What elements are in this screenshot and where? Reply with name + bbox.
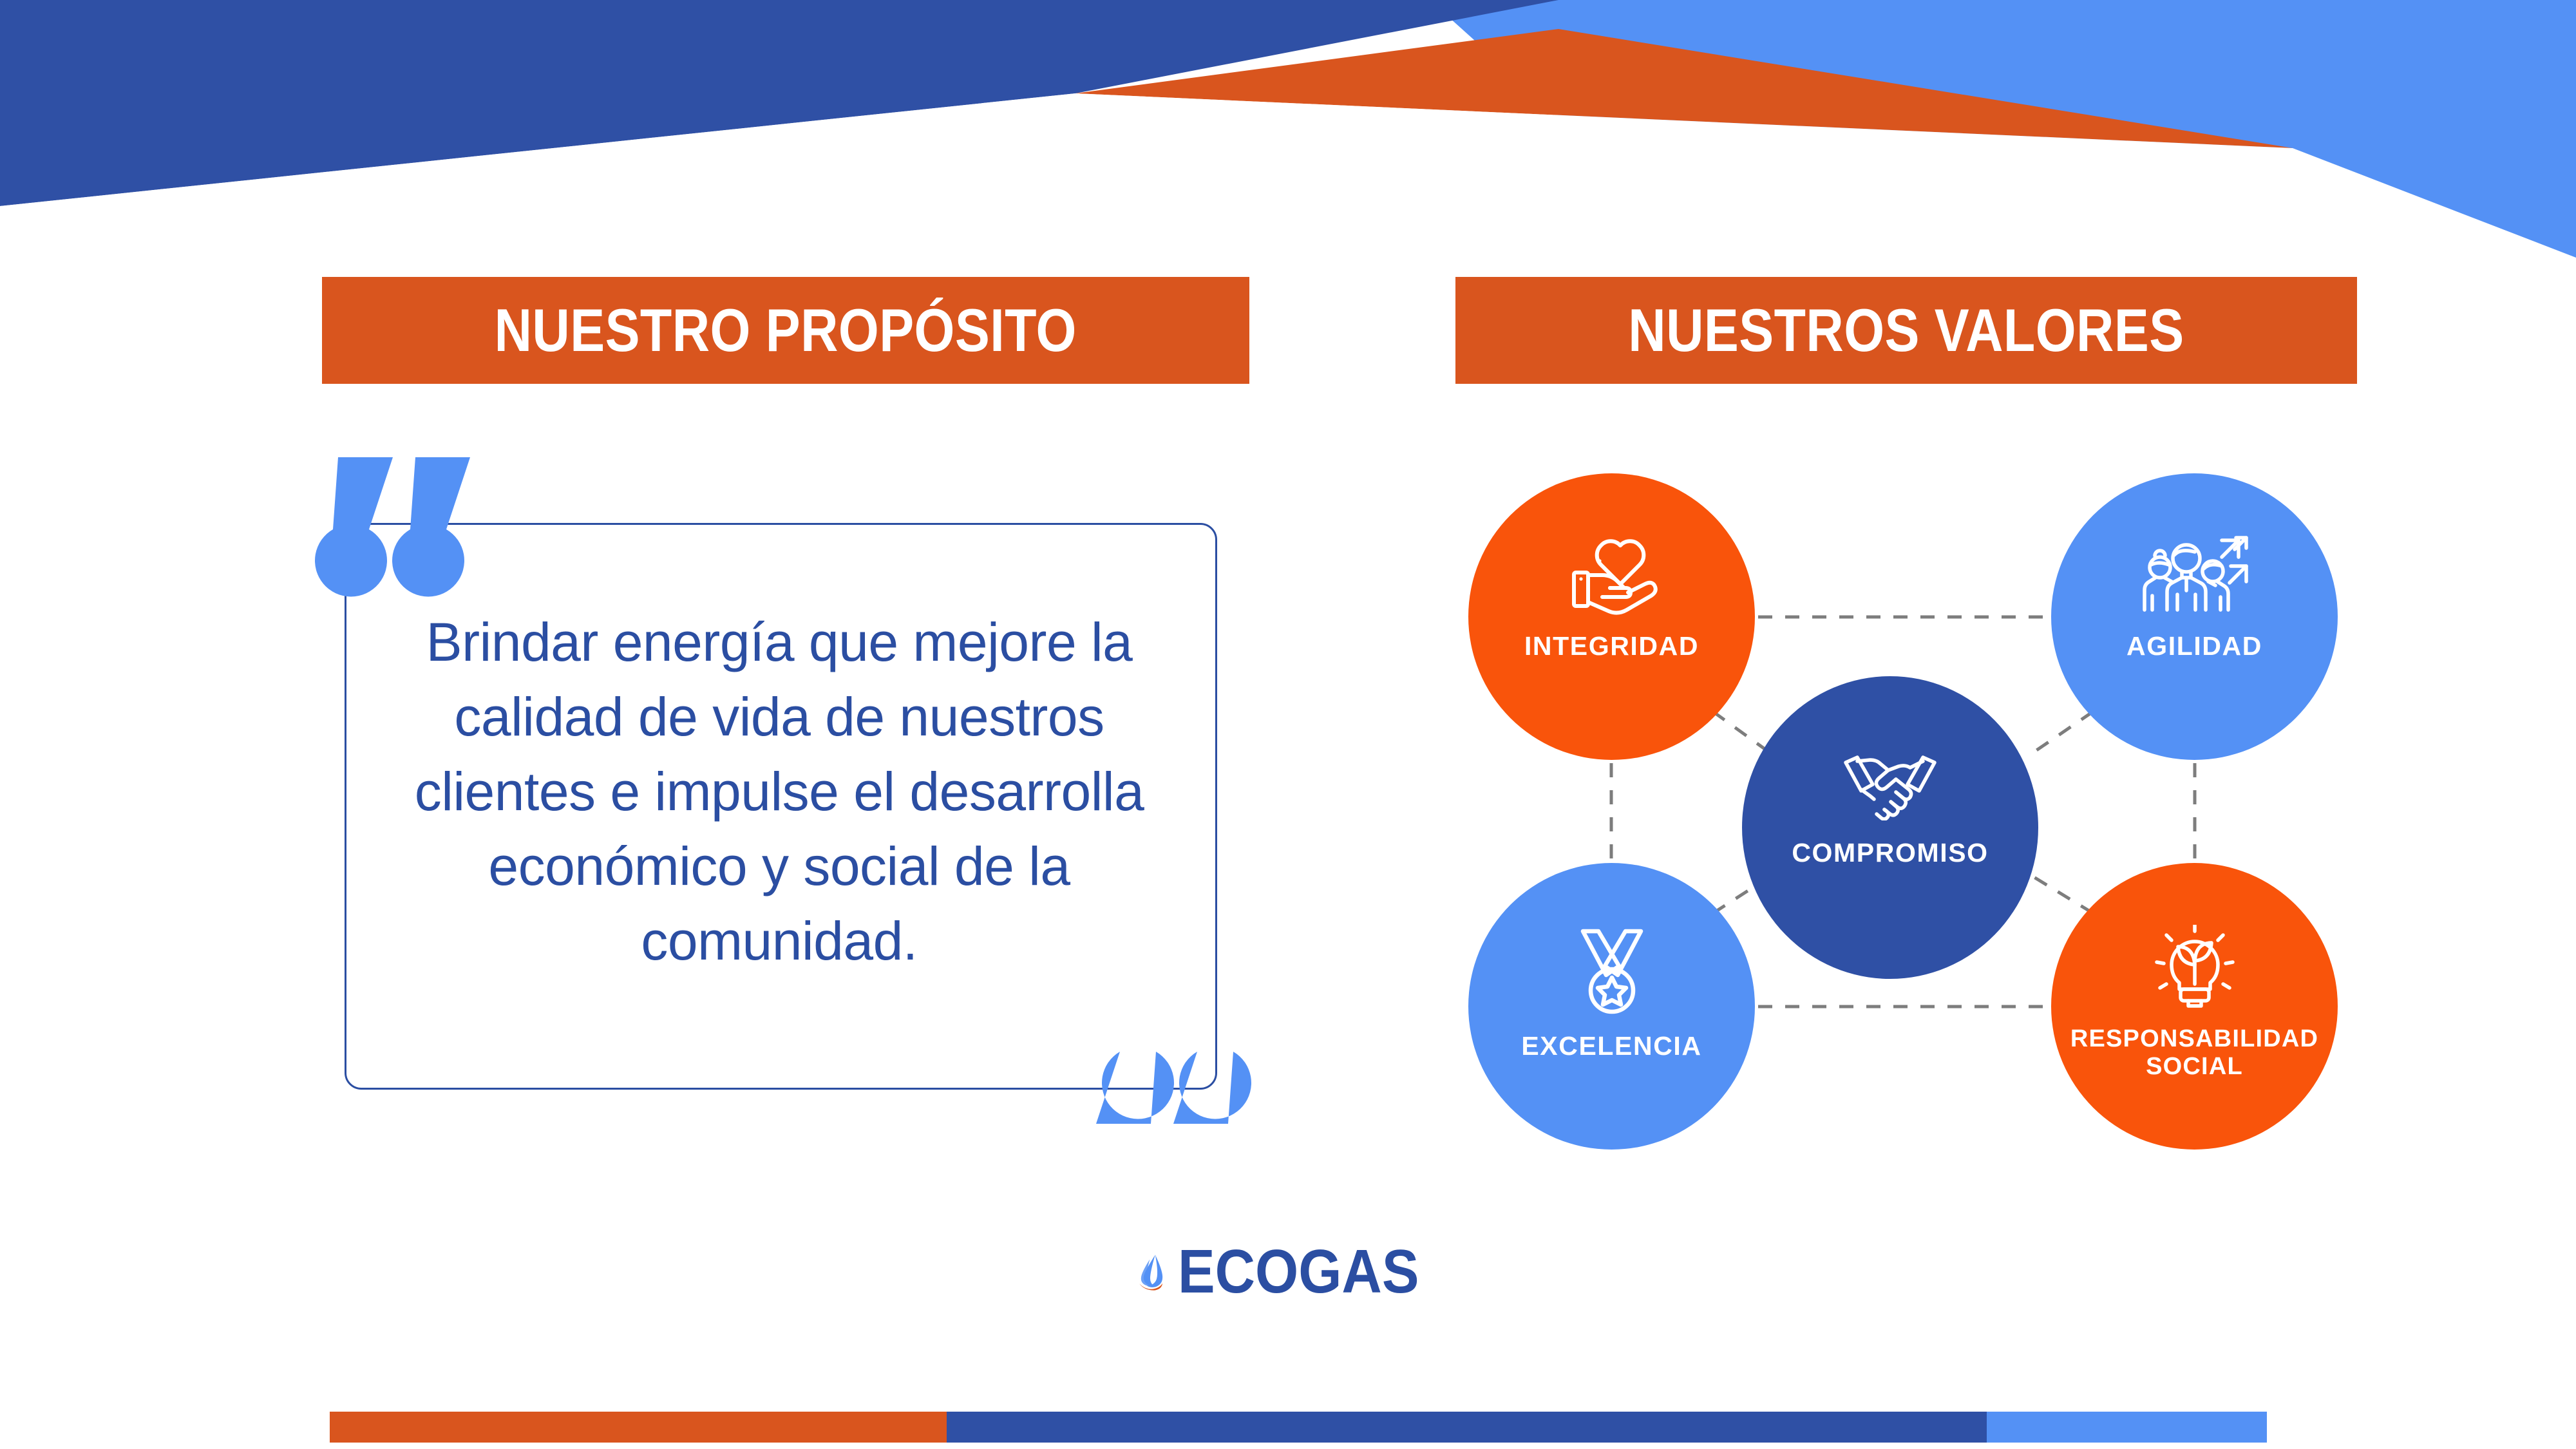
bottom-bar-orange-segment — [330, 1412, 947, 1443]
handshake-icon — [1842, 748, 1938, 820]
value-label-agilidad: AGILIDAD — [2126, 632, 2262, 661]
medal-star-icon — [1574, 927, 1650, 1015]
value-node-compromiso[interactable]: COMPROMISO — [1742, 676, 2038, 979]
quote-close-icon — [1079, 982, 1253, 1124]
heading-purpose-label: NUESTRO PROPÓSITO — [495, 300, 1077, 361]
connector-agilidad-compromiso — [2032, 712, 2093, 753]
top-decoration — [0, 0, 2576, 258]
ecogas-wordmark-text: ECOGAS — [1178, 1236, 1419, 1307]
connector-integridad-compromiso — [1713, 712, 1771, 753]
quote-open-icon — [299, 457, 473, 599]
heading-values-label: NUESTROS VALORES — [1628, 300, 2184, 361]
ecogas-logo: ECOGAS — [1137, 1207, 1446, 1336]
team-growth-icon — [2141, 533, 2249, 615]
bottom-bar-light-segment — [1987, 1412, 2267, 1443]
heading-purpose: NUESTRO PROPÓSITO — [322, 277, 1249, 384]
bottom-bar-navy-segment — [947, 1412, 1987, 1443]
value-node-agilidad[interactable]: AGILIDAD — [2051, 473, 2338, 760]
value-node-respsocial[interactable]: RESPONSABILIDAD SOCIAL — [2051, 863, 2338, 1150]
value-label-integridad: INTEGRIDAD — [1524, 632, 1699, 661]
value-node-integridad[interactable]: INTEGRIDAD — [1468, 473, 1755, 760]
value-label-respsocial: RESPONSABILIDAD SOCIAL — [2070, 1025, 2318, 1080]
value-label-excelencia: EXCELENCIA — [1521, 1032, 1701, 1061]
ecogas-wordmark: ECOGAS — [1178, 1236, 1446, 1307]
value-label-compromiso: COMPROMISO — [1792, 838, 1988, 868]
ecogas-flame-icon — [1137, 1211, 1168, 1333]
connector-respsocial-compromiso — [2032, 876, 2093, 913]
value-node-excelencia[interactable]: EXCELENCIA — [1468, 863, 1755, 1150]
eco-bulb-icon — [2154, 925, 2236, 1009]
hand-heart-icon — [1564, 533, 1660, 615]
purpose-quote-text: Brindar energía que mejore la calidad de… — [399, 605, 1159, 979]
values-diagram: INTEGRIDAD — [1436, 451, 2370, 1198]
heading-values: NUESTROS VALORES — [1455, 277, 2357, 384]
slide-canvas: NUESTRO PROPÓSITO NUESTROS VALORES Brind… — [0, 0, 2576, 1449]
